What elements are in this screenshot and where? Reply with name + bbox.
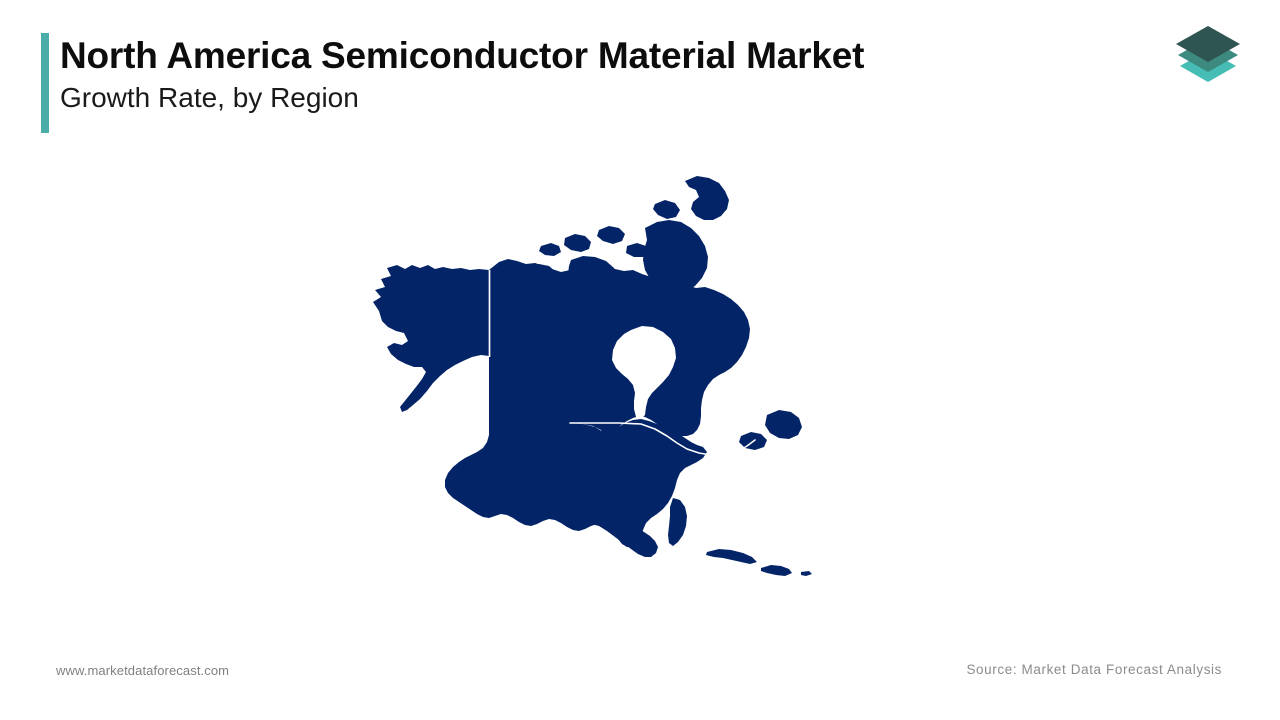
stacked-layers-logo: [1172, 22, 1244, 90]
map-final-render: [355, 168, 875, 598]
page-subtitle: Growth Rate, by Region: [60, 79, 864, 115]
header: North America Semiconductor Material Mar…: [41, 33, 864, 133]
header-text-block: North America Semiconductor Material Mar…: [49, 33, 864, 133]
north-america-detailed-map: [355, 168, 875, 598]
website-label: www.marketdataforecast.com: [56, 663, 229, 678]
page-title: North America Semiconductor Material Mar…: [60, 33, 864, 79]
slide-canvas: North America Semiconductor Material Mar…: [0, 0, 1280, 720]
accent-bar: [41, 33, 49, 133]
source-label: Source: Market Data Forecast Analysis: [966, 662, 1222, 677]
north-america-map: [355, 168, 875, 598]
